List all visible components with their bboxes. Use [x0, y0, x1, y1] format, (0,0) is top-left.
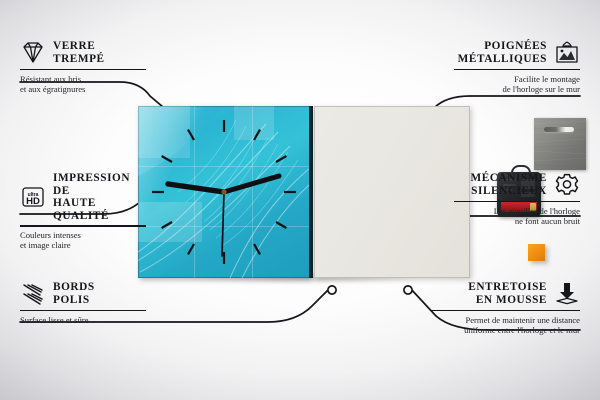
feature-title: MÉCANISME SILENCIEUX [471, 172, 548, 197]
divider [454, 69, 580, 70]
hanger-slot [544, 127, 574, 132]
clock-second-hand [222, 192, 224, 256]
wall-frame-hanger-icon [554, 40, 580, 66]
feature-title: BORDS POLIS [53, 281, 95, 306]
feature-entretoise-en-mousse: ENTRETOISE EN MOUSSE Permet de maintenir… [430, 281, 580, 335]
divider [430, 310, 580, 311]
gear-icon [554, 172, 580, 198]
ultra-hd-icon: ultra HD [20, 184, 46, 210]
divider [454, 201, 580, 202]
feature-description: Surface lisse et sûre [20, 315, 146, 325]
feature-impression-haute-qualite: ultra HD IMPRESSION DE HAUTE QUALITÉ Cou… [20, 172, 146, 250]
callout-dot-bords-polis [328, 286, 336, 294]
foam-spacer [528, 244, 545, 261]
callout-dot-entretoise [404, 286, 412, 294]
feature-bords-polis: BORDS POLIS Surface lisse et sûre [20, 281, 146, 325]
feature-verre-trempe: VERRE TREMPÉ Résistant aux bris et aux é… [20, 40, 146, 94]
feature-poignees-metalliques: POIGNÉES MÉTALLIQUES Facilite le montage… [454, 40, 580, 94]
diamond-icon [20, 40, 46, 66]
feature-description: Facilite le montage de l'horloge sur le … [454, 74, 580, 94]
feature-description: Les aiguilles de l'horloge ne font aucun… [454, 206, 580, 226]
metal-texture [534, 118, 586, 170]
clock-center-cap [221, 189, 226, 194]
clock-back-panel [314, 106, 470, 278]
clock-dial-face [138, 106, 310, 278]
feature-title: IMPRESSION DE HAUTE QUALITÉ [53, 172, 146, 222]
feature-title: VERRE TREMPÉ [53, 40, 105, 65]
clock-hands-and-ticks [138, 106, 310, 278]
foam-spacer-arrow-icon [554, 281, 580, 307]
feature-description: Permet de maintenir une distance uniform… [430, 315, 580, 335]
feature-description: Couleurs intenses et image claire [20, 230, 146, 250]
divider [20, 310, 146, 311]
polished-edges-icon [20, 281, 46, 307]
divider [20, 225, 146, 226]
feature-mecanisme-silencieux: MÉCANISME SILENCIEUX Les aiguilles de l'… [454, 172, 580, 226]
divider [20, 69, 146, 70]
feature-description: Résistant aux bris et aux égratignures [20, 74, 146, 94]
feature-title: POIGNÉES MÉTALLIQUES [458, 40, 547, 65]
wall-clock-product-photo [138, 106, 470, 284]
infographic-canvas: VERRE TREMPÉ Résistant aux bris et aux é… [0, 0, 600, 400]
feature-title: ENTRETOISE EN MOUSSE [468, 281, 547, 306]
clock-hour-hand [168, 184, 224, 192]
metal-hanger-plate [534, 118, 586, 170]
clock-panel-edge [309, 106, 313, 278]
clock-minute-hand [224, 176, 279, 192]
ultra-hd-icon-main-label: HD [26, 196, 40, 207]
